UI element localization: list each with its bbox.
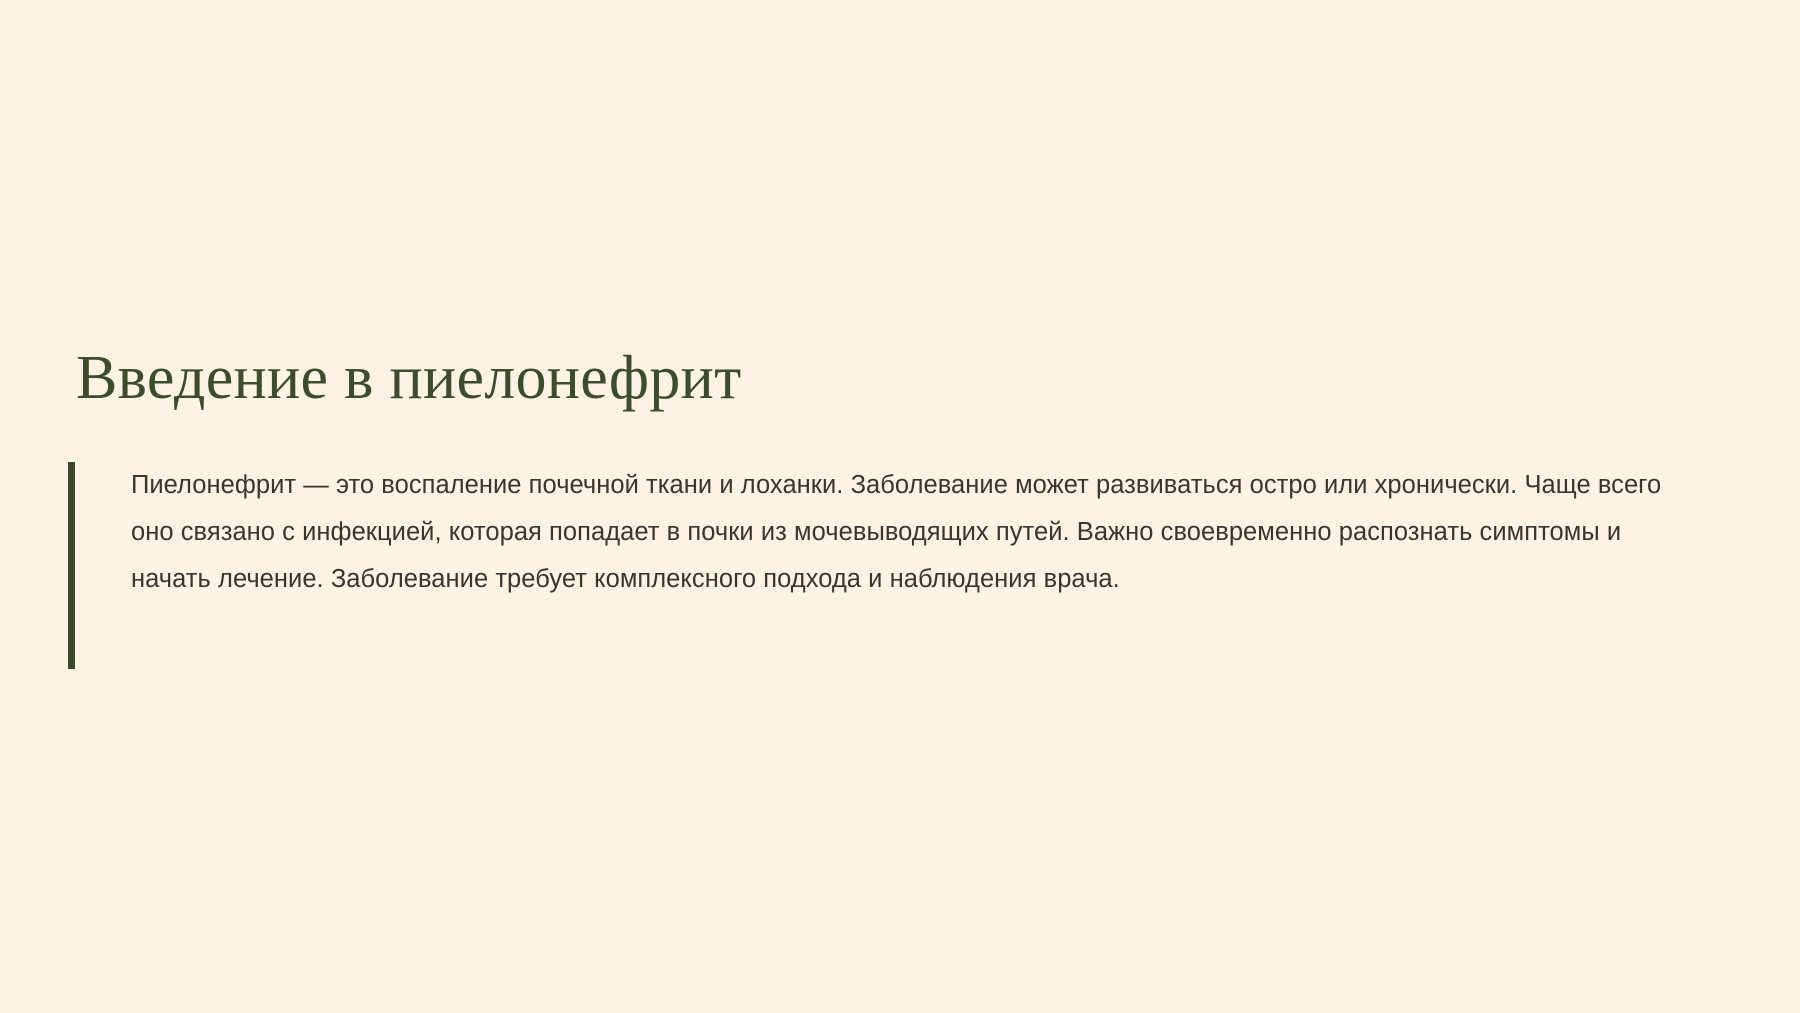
page-title: Введение в пиелонефрит <box>76 345 742 412</box>
intro-paragraph-text: Пиелонефрит — это воспаление почечной тк… <box>75 462 1706 669</box>
intro-paragraph-block: Пиелонефрит — это воспаление почечной тк… <box>68 462 1728 669</box>
slide-root: Введение в пиелонефрит Пиелонефрит — это… <box>0 0 1800 1013</box>
accent-bar <box>68 462 75 669</box>
